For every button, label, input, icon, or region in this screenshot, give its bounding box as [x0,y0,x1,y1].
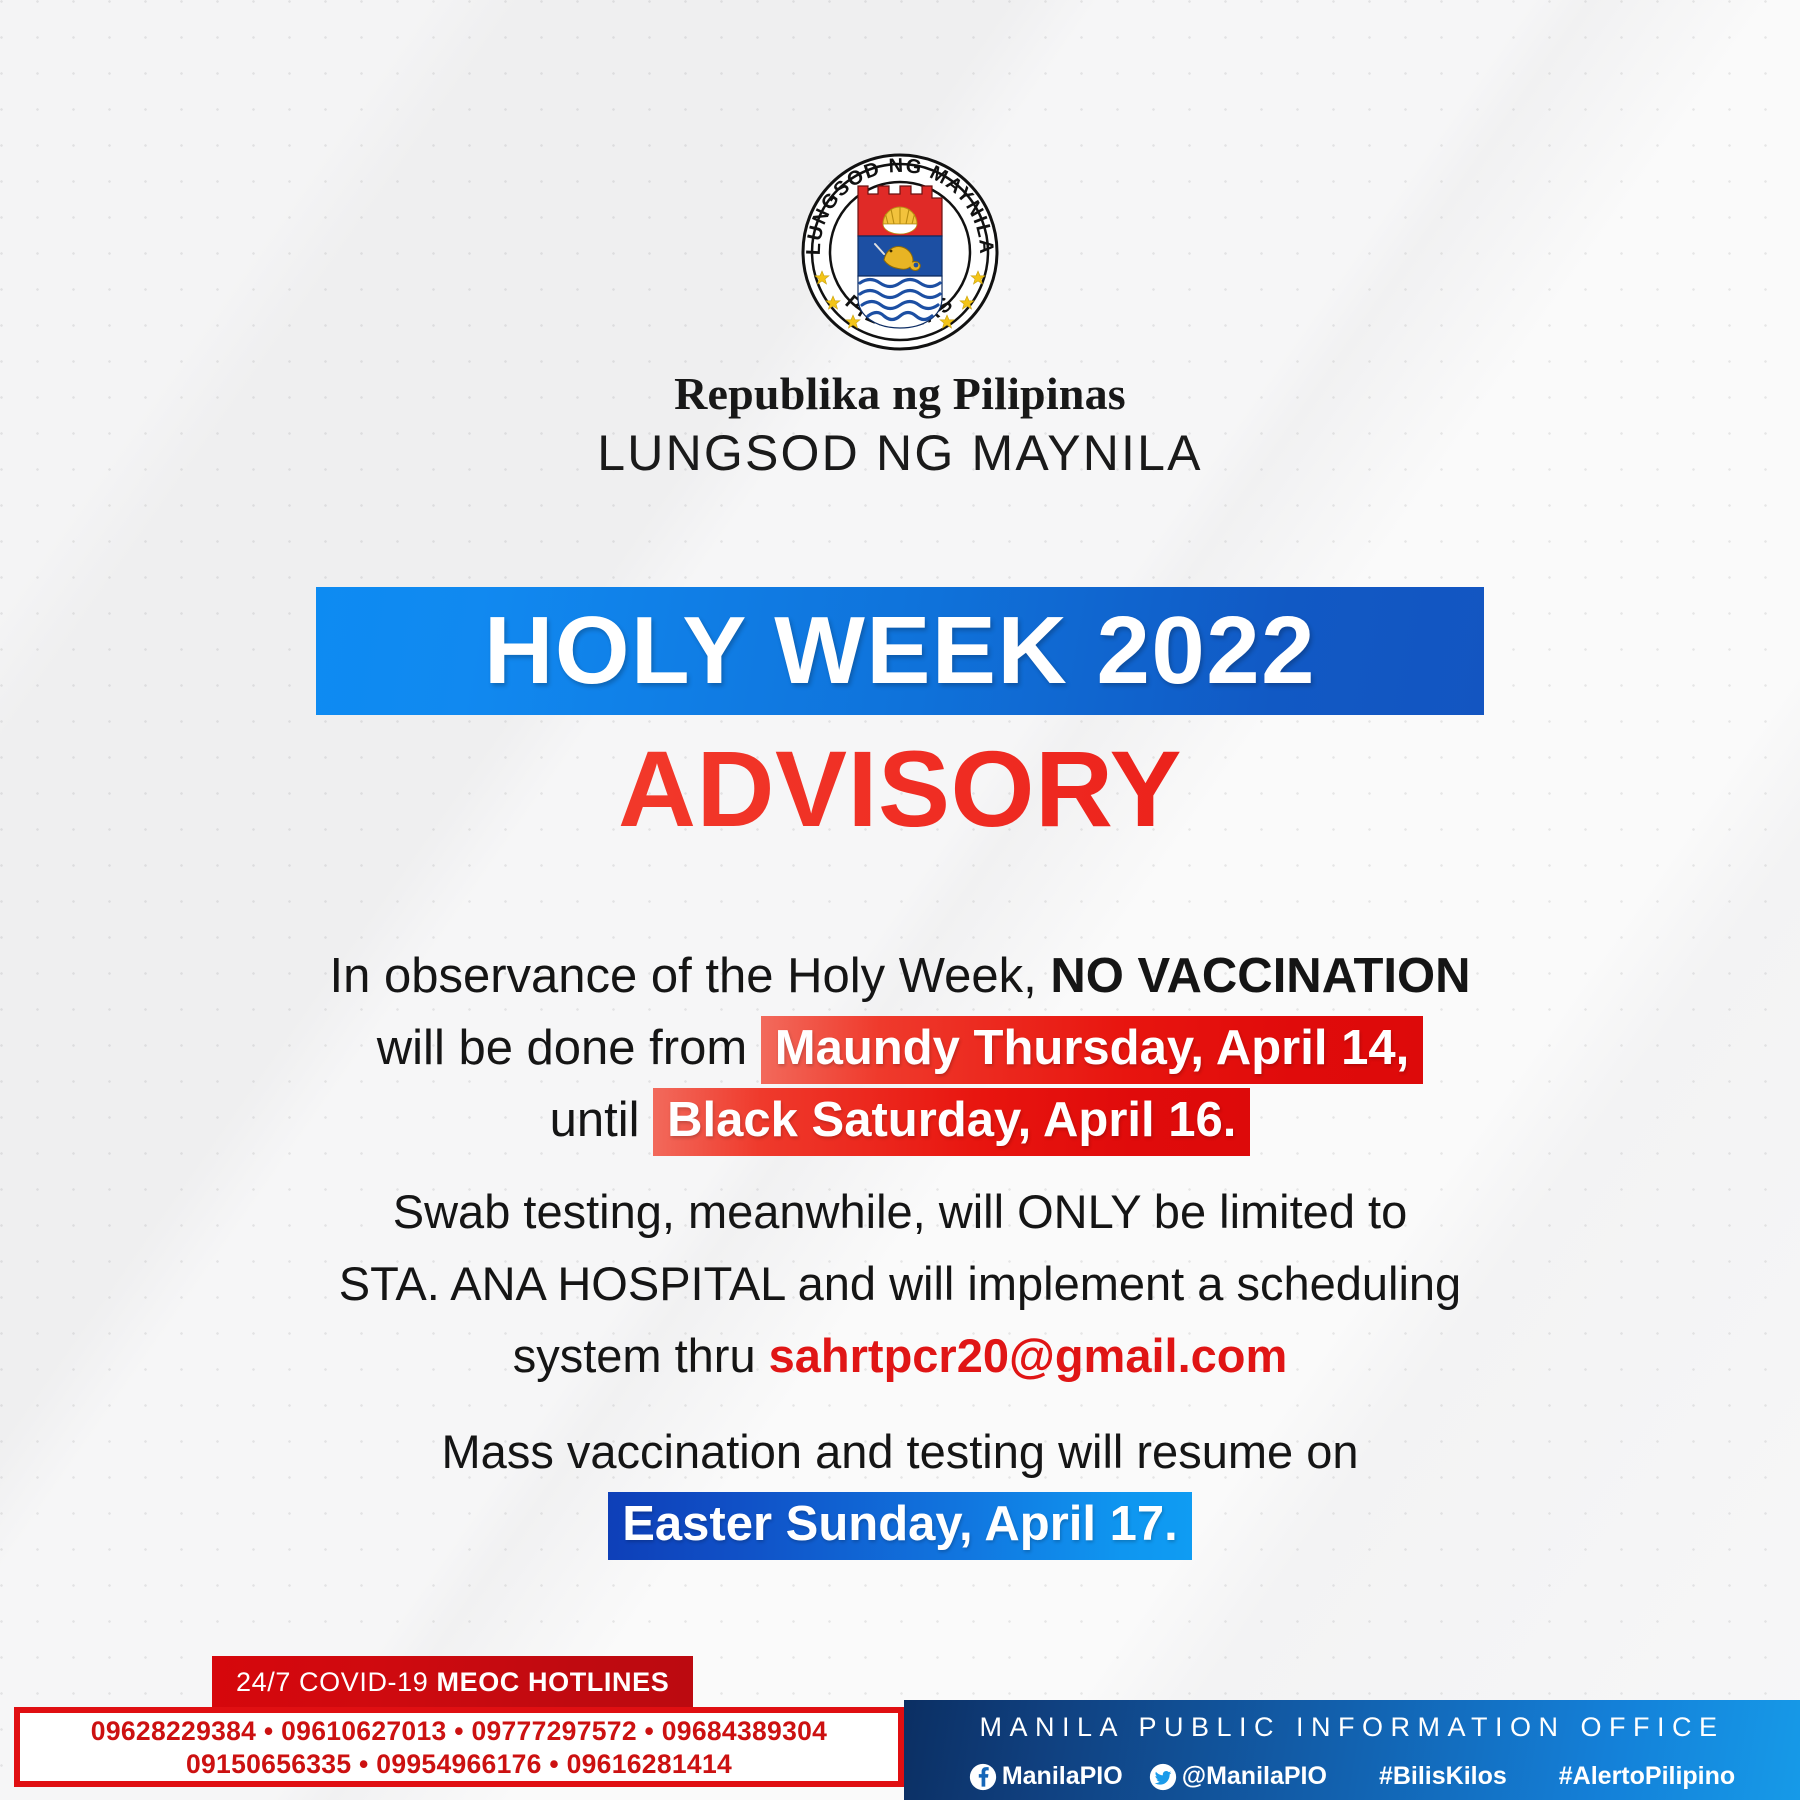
body-line-1-bold: NO VACCINATION [1050,949,1470,1003]
body-line-5: STA. ANA HOSPITAL and will implement a s… [0,1248,1800,1320]
body-line-6: system thru sahrtpcr20@gmail.com [0,1320,1800,1392]
hashtag-bilis-kilos[interactable]: #BilisKilos [1379,1764,1507,1789]
poster-header: LUNGSOD NG MAYNILA PILIPINAS [0,0,1800,480]
manila-city-seal: LUNGSOD NG MAYNILA PILIPINAS [784,152,1016,352]
paragraph-no-vaccination: In observance of the Holy Week, NO VACCI… [0,940,1800,1156]
twitter-icon [1149,1763,1177,1791]
paragraph-resume: Mass vaccination and testing will resume… [0,1416,1800,1560]
email-address[interactable]: sahrtpcr20@gmail.com [769,1329,1288,1382]
hotline-numbers-row-2[interactable]: 09150656335 • 09954966176 • 09616281414 [186,1748,732,1781]
hotline-numbers-box: 09628229384 • 09610627013 • 09777297572 … [14,1707,904,1787]
holy-week-title-banner: HOLY WEEK 2022 [316,587,1484,715]
city-line: LUNGSOD NG MAYNILA [0,427,1800,480]
city-seal-icon: LUNGSOD NG MAYNILA PILIPINAS [784,152,1016,352]
twitter-handle: @ManilaPIO [1182,1764,1327,1789]
body-line-4: Swab testing, meanwhile, will ONLY be li… [0,1176,1800,1248]
facebook-icon [969,1763,997,1791]
advisory-body: In observance of the Holy Week, NO VACCI… [0,940,1800,1560]
hotline-label-prefix: 24/7 COVID-19 [236,1667,437,1697]
pio-title: MANILA PUBLIC INFORMATION OFFICE [979,1714,1724,1741]
body-line-6-normal: system thru [513,1329,769,1382]
highlight-black-saturday: Black Saturday, April 16. [653,1088,1250,1156]
facebook-handle: ManilaPIO [1002,1764,1123,1789]
hotline-tab-label: 24/7 COVID-19 MEOC HOTLINES [236,1667,669,1698]
body-line-2-normal: will be done from [377,1021,761,1075]
hotline-tab: 24/7 COVID-19 MEOC HOTLINES [212,1656,693,1708]
hotline-numbers-row-1[interactable]: 09628229384 • 09610627013 • 09777297572 … [91,1715,827,1748]
paragraph-spacer-2 [0,1392,1800,1416]
manila-pio-bar: MANILA PUBLIC INFORMATION OFFICE ManilaP… [904,1700,1800,1800]
advisory-heading: ADVISORY [0,735,1800,843]
hotline-label-bold: MEOC HOTLINES [437,1667,670,1697]
body-line-1: In observance of the Holy Week, NO VACCI… [0,940,1800,1012]
body-line-1-normal: In observance of the Holy Week, [330,949,1051,1003]
highlight-easter-sunday: Easter Sunday, April 17. [608,1492,1192,1560]
body-line-3: until Black Saturday, April 16. [0,1084,1800,1156]
paragraph-spacer-1 [0,1156,1800,1176]
body-line-8: Easter Sunday, April 17. [0,1488,1800,1560]
body-line-2: will be done from Maundy Thursday, April… [0,1012,1800,1084]
body-line-3-normal: until [550,1093,654,1147]
facebook-link[interactable]: ManilaPIO [969,1763,1123,1791]
twitter-link[interactable]: @ManilaPIO [1149,1763,1327,1791]
body-line-7: Mass vaccination and testing will resume… [0,1416,1800,1488]
pio-social-row: ManilaPIO @ManilaPIO #BilisKilos #Alerto… [969,1763,1735,1791]
republic-line: Republika ng Pilipinas [0,370,1800,419]
advisory-poster: LUNGSOD NG MAYNILA PILIPINAS [0,0,1800,1800]
highlight-maundy-thursday: Maundy Thursday, April 14, [761,1016,1423,1084]
holy-week-title-text: HOLY WEEK 2022 [484,603,1316,699]
paragraph-swab-testing: Swab testing, meanwhile, will ONLY be li… [0,1176,1800,1392]
hashtag-alerto-pilipino[interactable]: #AlertoPilipino [1559,1764,1735,1789]
